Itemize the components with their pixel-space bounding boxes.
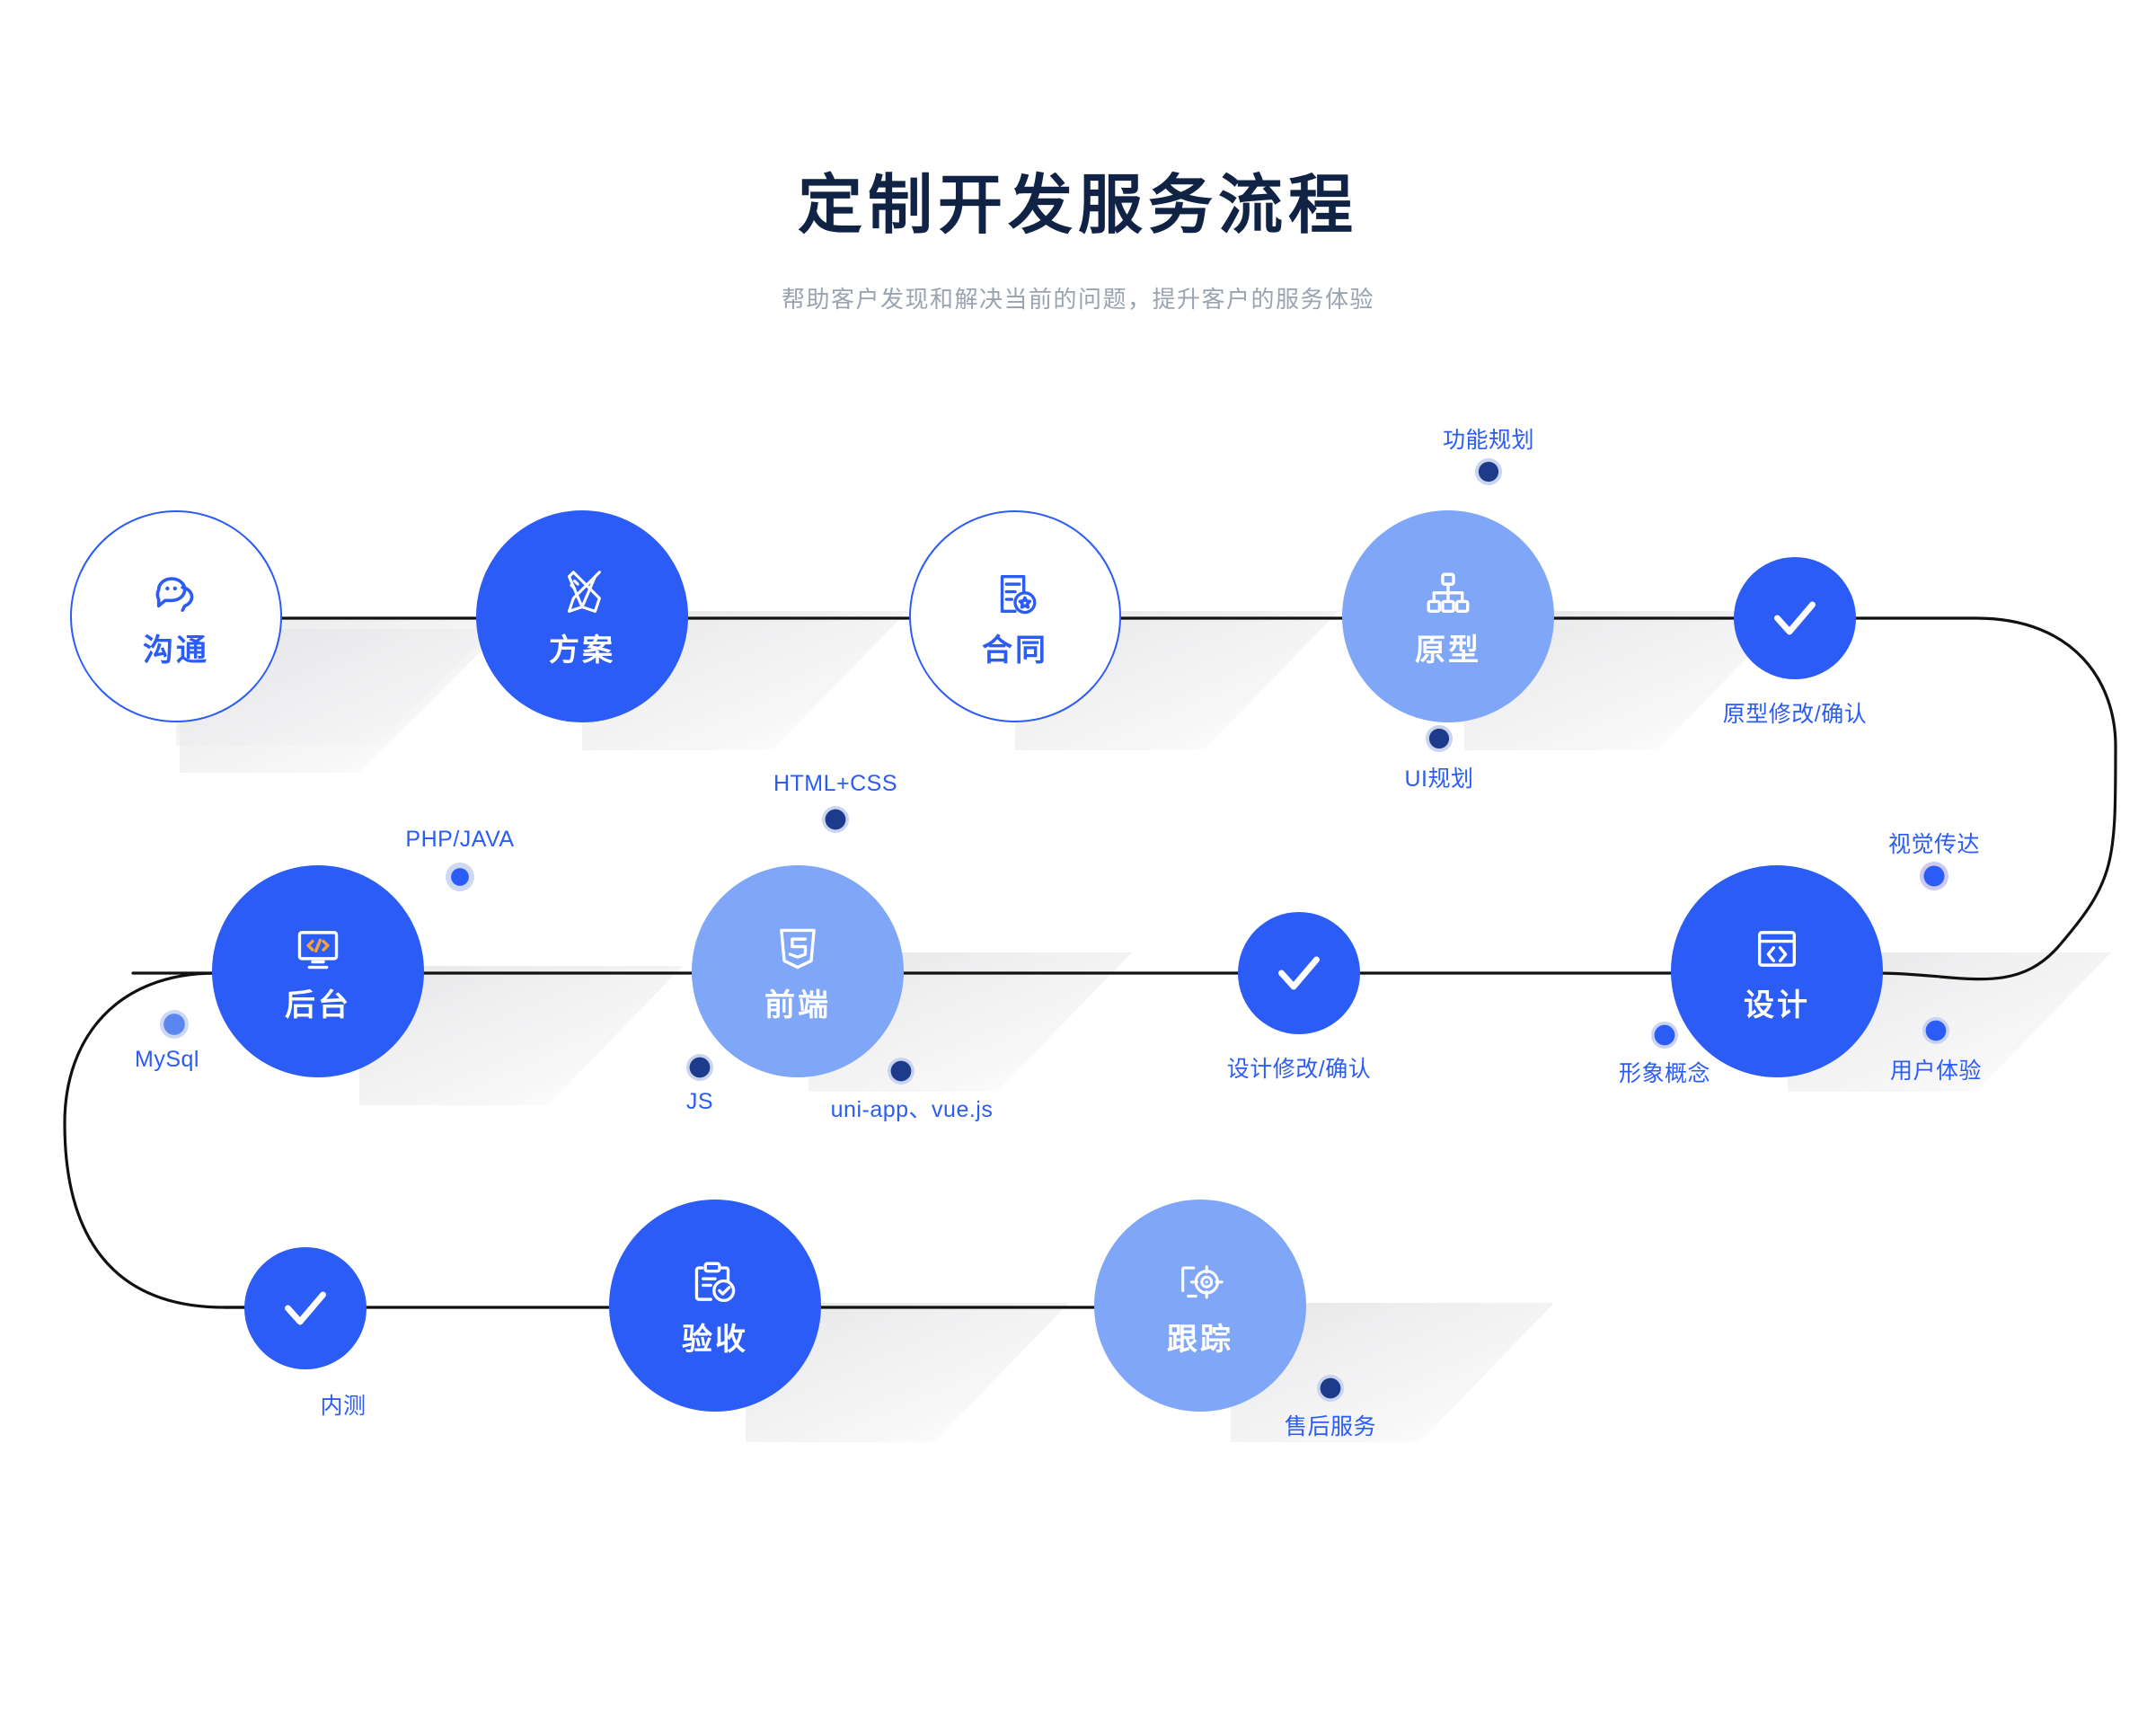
checkpoint-prototype-confirm[interactable] xyxy=(1734,557,1856,679)
check-icon xyxy=(1267,941,1331,1005)
tag-label-ui-planning: UI规划 xyxy=(1404,761,1473,793)
tag-dot-visual-communication xyxy=(1920,862,1948,890)
right-loop xyxy=(1878,618,2116,979)
node-label: 合同 xyxy=(982,635,1048,666)
node-he-tong[interactable]: 合同 xyxy=(909,510,1121,722)
node-qian-duan[interactable]: 前端 xyxy=(692,865,904,1077)
html5-shield-icon xyxy=(772,923,824,979)
check-icon xyxy=(1763,586,1827,651)
checkpoint-label-design: 设计修改/确认 xyxy=(1227,1051,1371,1084)
design-window-icon xyxy=(1751,923,1803,979)
tag-dot-js xyxy=(686,1054,713,1081)
node-hou-tai[interactable]: 后台 xyxy=(212,865,424,1077)
node-label: 沟通 xyxy=(143,635,209,666)
node-label: 前端 xyxy=(764,990,831,1021)
sitemap-icon xyxy=(1422,568,1474,624)
node-label: 验收 xyxy=(682,1324,748,1355)
tag-label-php-java: PHP/JAVA xyxy=(405,827,514,853)
tag-label-after-sales: 售后服务 xyxy=(1285,1409,1376,1441)
tag-dot-html-css xyxy=(822,806,849,833)
checkpoint-label-prototype: 原型修改/确认 xyxy=(1723,696,1867,729)
node-label: 跟踪 xyxy=(1167,1324,1233,1355)
tag-dot-ui-planning xyxy=(1426,725,1453,752)
tag-label-uniapp-vue: uni-app、vue.js xyxy=(831,1092,994,1124)
tag-label-user-experience: 用户体验 xyxy=(1890,1053,1982,1085)
infographic-canvas: 定制开发服务流程 帮助客户发现和解决当前的问题，提升客户的服务体验 xyxy=(0,0,2156,1709)
node-label: 原型 xyxy=(1415,635,1481,666)
page-subtitle: 帮助客户发现和解决当前的问题，提升客户的服务体验 xyxy=(0,281,2156,314)
tag-dot-brand-concept xyxy=(1651,1022,1678,1049)
ruler-pencil-icon xyxy=(556,568,608,624)
node-yuan-xing[interactable]: 原型 xyxy=(1342,510,1554,722)
node-label: 后台 xyxy=(285,990,351,1021)
tracking-target-icon xyxy=(1174,1257,1226,1314)
tag-dot-mysql xyxy=(160,1010,189,1039)
tag-dot-function-planning xyxy=(1475,458,1502,485)
node-gou-tong[interactable]: 沟通 xyxy=(70,510,282,722)
code-monitor-icon xyxy=(292,923,344,979)
header: 定制开发服务流程 帮助客户发现和解决当前的问题，提升客户的服务体验 xyxy=(0,0,2156,314)
chat-bubble-icon xyxy=(150,568,202,624)
tag-label-brand-concept: 形象概念 xyxy=(1619,1056,1710,1088)
node-gen-zong[interactable]: 跟踪 xyxy=(1094,1200,1306,1412)
node-she-ji[interactable]: 设计 xyxy=(1671,865,1883,1077)
node-yan-shou[interactable]: 验收 xyxy=(609,1200,821,1412)
tag-dot-uniapp-vue xyxy=(888,1058,915,1085)
node-label: 方案 xyxy=(549,635,615,666)
tag-dot-user-experience xyxy=(1922,1017,1949,1044)
page-title: 定制开发服务流程 xyxy=(0,171,2156,242)
tag-label-function-planning: 功能规划 xyxy=(1443,422,1534,455)
clipboard-check-icon xyxy=(689,1257,741,1314)
check-icon xyxy=(273,1276,338,1341)
tag-label-html-css: HTML+CSS xyxy=(773,771,897,797)
tag-label-visual-communication: 视觉传达 xyxy=(1888,827,1980,859)
contract-seal-icon xyxy=(989,568,1041,624)
tag-label-mysql: MySql xyxy=(135,1047,199,1073)
tag-dot-after-sales xyxy=(1317,1375,1344,1402)
checkpoint-internal-test[interactable] xyxy=(244,1247,367,1369)
tag-dot-php-java xyxy=(446,863,474,891)
tag-label-js: JS xyxy=(686,1089,713,1115)
checkpoint-design-confirm[interactable] xyxy=(1238,912,1360,1034)
checkpoint-label-internal-test: 内测 xyxy=(320,1388,366,1421)
node-label: 设计 xyxy=(1744,990,1810,1021)
node-fang-an[interactable]: 方案 xyxy=(476,510,688,722)
